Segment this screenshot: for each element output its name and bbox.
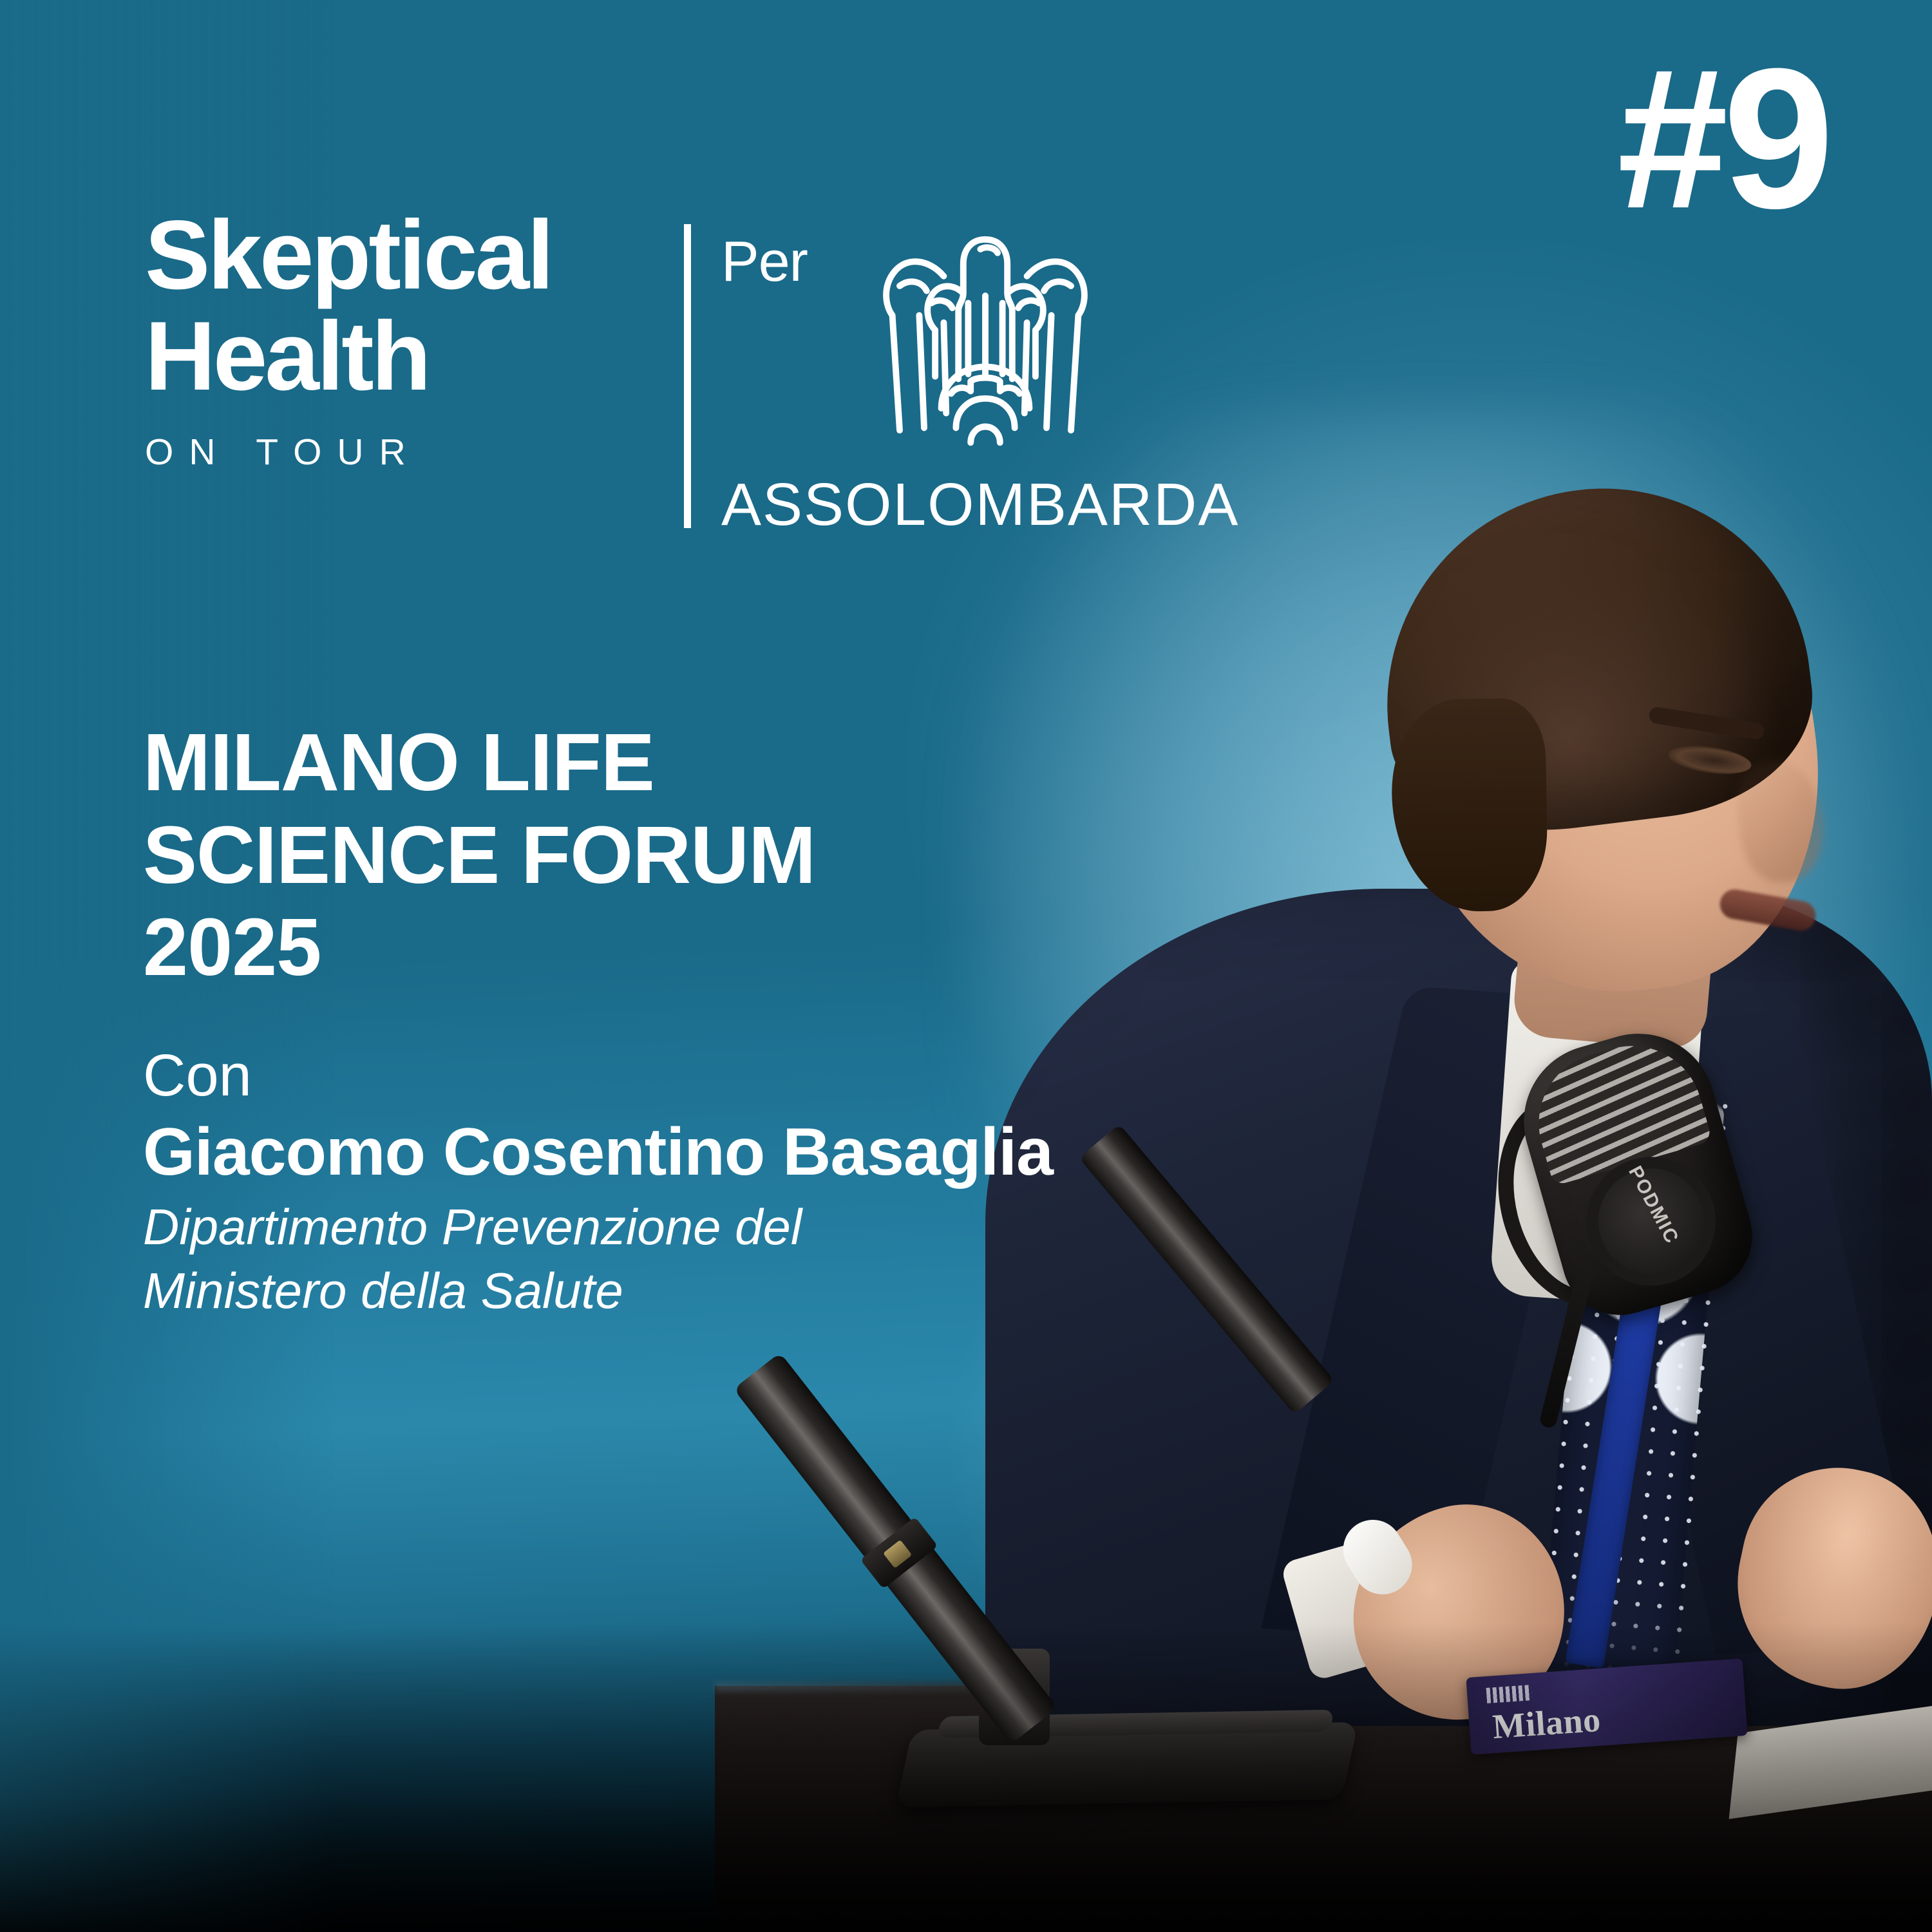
brand-line-2: Health — [145, 306, 551, 407]
page-title: MILANO LIFE SCIENCE FORUM 2025 — [143, 716, 815, 994]
lockup-divider — [684, 224, 691, 528]
brand-lockup: Skeptical Health ON TOUR — [145, 205, 551, 473]
podcast-cover-poster: Milano PODMIC #9 Skeptical Health ON TOU… — [0, 0, 1932, 1932]
brand-tagline: ON TOUR — [145, 431, 551, 473]
badge-logo-icon — [1486, 1685, 1533, 1703]
episode-number: #9 — [1617, 39, 1829, 238]
mic-cable-clip — [860, 1517, 938, 1589]
event-title-line-2: SCIENCE FORUM — [143, 809, 815, 902]
partner-name: ASSOLOMBARDA — [721, 470, 1236, 539]
brand-line-1: Skeptical — [145, 205, 551, 306]
speaker-role: Dipartimento Prevenzione del Ministero d… — [143, 1195, 1053, 1324]
mic-stand-base — [896, 1722, 1358, 1807]
badge-label: Milano — [1492, 1700, 1602, 1747]
assolombarda-eagle-icon — [863, 213, 1108, 460]
credits-with-label: Con — [143, 1043, 1053, 1108]
event-title-line-1: MILANO LIFE — [143, 716, 815, 809]
event-title-line-3: 2025 — [143, 901, 815, 994]
partner-preposition: Per — [721, 229, 869, 294]
speaker-name: Giacomo Cosentino Basaglia — [143, 1115, 1053, 1189]
speaker-role-line-2: Ministero della Salute — [143, 1259, 1053, 1323]
speaker-credits: Con Giacomo Cosentino Basaglia Dipartime… — [143, 1043, 1053, 1323]
speaker-role-line-1: Dipartimento Prevenzione del — [143, 1195, 1053, 1260]
